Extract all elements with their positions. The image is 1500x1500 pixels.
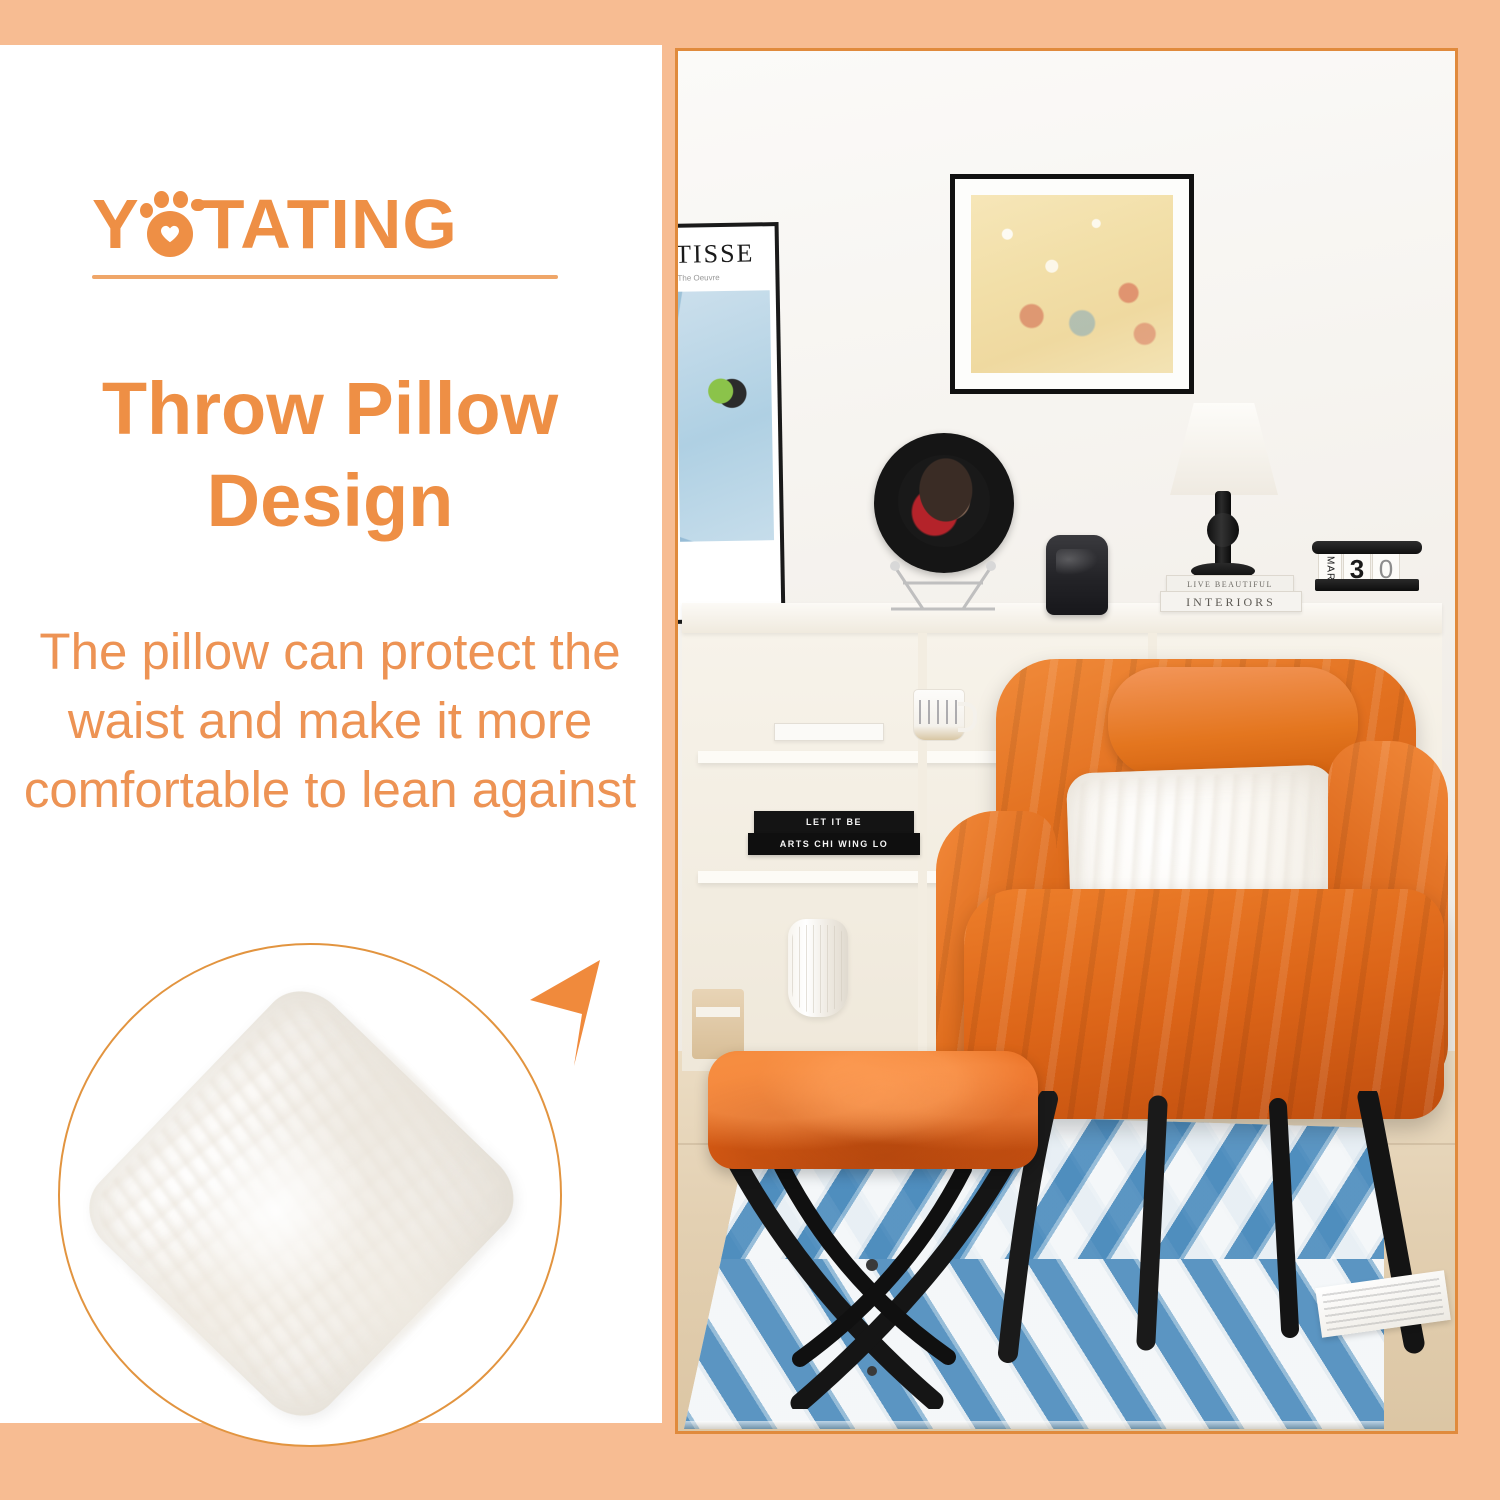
poster-artwork: [676, 290, 774, 542]
book-title: INTERIORS: [1161, 595, 1301, 610]
logo-letter-y: Y: [92, 189, 140, 259]
product-inset: [48, 938, 628, 1458]
room-photo: TISSE The Oeuvre TASCHEN: [675, 48, 1458, 1434]
logo-wordmark-row: Y TATING: [92, 183, 562, 259]
page-title: Throw Pillow Design: [30, 363, 630, 547]
lamp-body: [1207, 513, 1239, 547]
book-arts-chi-wing-lo: ARTS CHI WING LO: [748, 833, 920, 855]
headline-line-2: Design: [30, 455, 630, 547]
logo-letters-tating: TATING: [202, 189, 458, 259]
record-stand: [883, 561, 1003, 613]
ottoman-legs: [696, 1149, 1046, 1409]
chair-legs: [978, 1091, 1448, 1381]
wooden-decor-block: [692, 989, 744, 1059]
chair-head-pillow: [1108, 667, 1358, 777]
book-title: LIVE BEAUTIFUL: [1167, 580, 1293, 589]
product-marketing-card: Y TATING Throw Pillow Design The pillow …: [0, 0, 1500, 1500]
poster-title: TISSE: [675, 238, 755, 269]
book-let-it-be: LET IT BE: [754, 811, 914, 833]
smart-speaker: [1046, 535, 1108, 615]
wooden-decor-accent: [696, 1007, 740, 1017]
shelf-book: [774, 723, 884, 741]
left-text-panel: Y TATING Throw Pillow Design The pillow …: [0, 45, 662, 1423]
ribbed-vase: [788, 919, 848, 1017]
book-interiors: INTERIORS: [1160, 591, 1302, 612]
abstract-framed-art: [950, 174, 1194, 394]
calendar-base: [1315, 579, 1419, 591]
ottoman-cushion: [708, 1051, 1038, 1169]
triangle-arrow-icon: [478, 956, 608, 1086]
poster-subtitle: The Oeuvre: [677, 273, 719, 283]
ceramic-mug-patterned: [913, 689, 965, 741]
headline-line-1: Throw Pillow: [30, 363, 630, 455]
vinyl-record: [874, 433, 1014, 573]
description-text: The pillow can protect the waist and mak…: [22, 617, 638, 824]
book-title: LET IT BE: [754, 811, 914, 833]
matisse-poster: TISSE The Oeuvre TASCHEN: [675, 222, 785, 624]
logo-underline-divider: [92, 275, 558, 279]
book-title: ARTS CHI WING LO: [748, 833, 920, 855]
brand-logo: Y TATING: [92, 183, 562, 279]
paw-heart-icon: [140, 189, 202, 259]
calendar-top-bar: [1312, 541, 1422, 554]
